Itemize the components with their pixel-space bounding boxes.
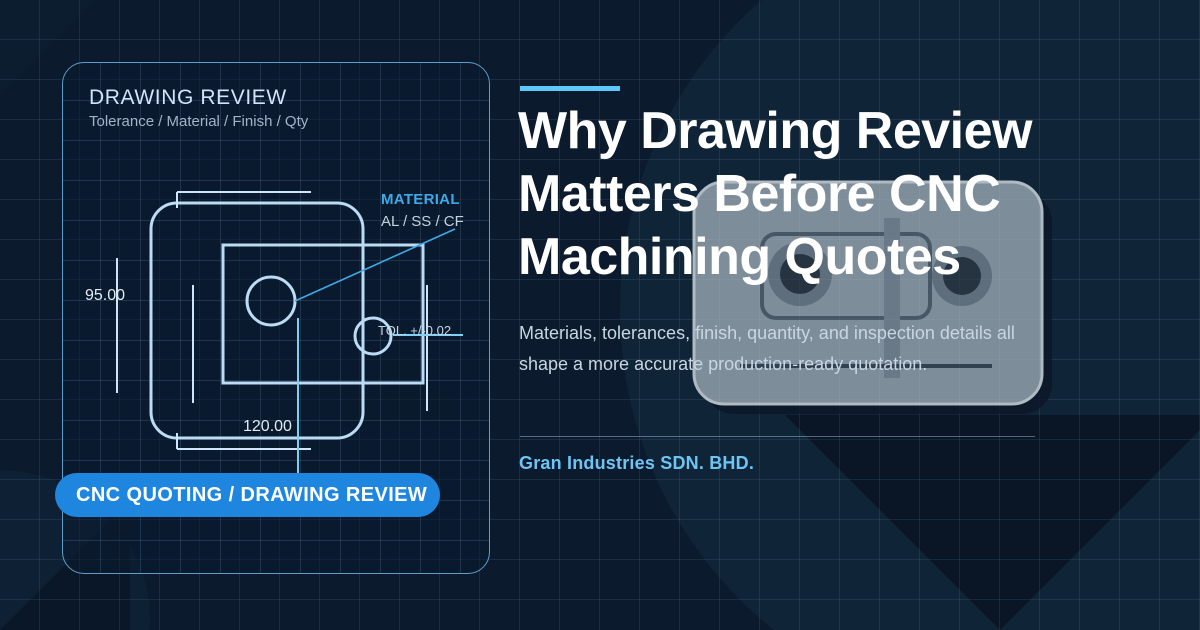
accent-bar [520,86,620,91]
cad-plate-outline [223,245,423,383]
page-title: Why Drawing Review Matters Before CNC Ma… [518,100,1118,289]
cnc-quoting-badge-label: CNC QUOTING / DRAWING REVIEW [76,473,427,517]
material-callout-value: AL / SS / CF [381,213,464,230]
material-callout-label: MATERIAL [381,191,460,208]
body-description: Materials, tolerances, finish, quantity,… [519,318,1064,380]
company-name: Gran Industries SDN. BHD. [519,453,754,474]
blueprint-subtitle: Tolerance / Material / Finish / Qty [89,113,308,130]
cad-leader-material [295,229,455,301]
content-divider [520,436,1035,437]
blueprint-title: DRAWING REVIEW [89,86,287,110]
dimension-tolerance-label: TOL. +/-0.02 [378,323,451,338]
dimension-width-label: 120.00 [243,418,292,436]
dimension-height-label: 95.00 [85,287,125,305]
cad-hole-large [247,277,295,325]
banner-canvas: DRAWING REVIEW Tolerance / Material / Fi… [0,0,1200,630]
